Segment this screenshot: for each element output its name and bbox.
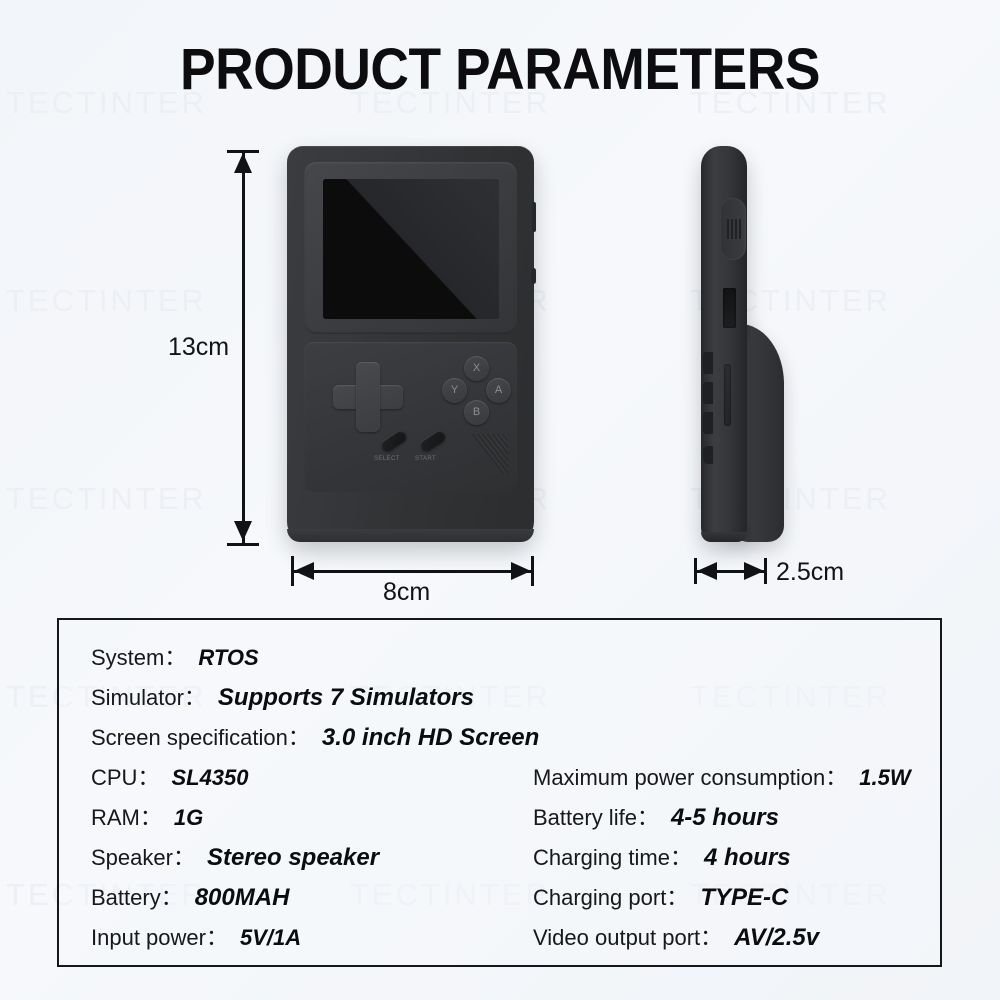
spec-value: Stereo speaker xyxy=(207,844,379,872)
height-dimension-label: 13cm xyxy=(168,333,229,362)
spec-value: SL4350 xyxy=(171,765,248,791)
spec-value: 1G xyxy=(174,805,203,831)
spec-label: Simulator： xyxy=(91,680,206,712)
spec-label: Battery life： xyxy=(533,800,659,832)
spec-row-simulator: Simulator： Supports 7 Simulators xyxy=(91,680,474,712)
height-dimension-arrow-down xyxy=(234,521,252,541)
height-dimension-arrow-up xyxy=(234,153,252,173)
watermark: TECTINTER xyxy=(6,283,207,319)
speaker-grille xyxy=(464,434,508,474)
spec-row-screen-specification: Screen specification： 3.0 inch HD Screen xyxy=(91,720,539,752)
button-x: X xyxy=(464,356,489,381)
spec-label: CPU： xyxy=(91,760,159,792)
spec-label: Screen specification： xyxy=(91,720,310,752)
spec-row-video-output-port: Video output port： AV/2.5v xyxy=(533,920,819,952)
watermark: TECTINTER xyxy=(6,481,207,517)
device-screen xyxy=(323,179,499,319)
screen-bezel xyxy=(304,162,517,334)
side-button-4 xyxy=(703,446,713,464)
spec-row-cpu: CPU： SL4350 xyxy=(91,760,249,792)
specifications-box: System： RTOS Simulator： Supports 7 Simul… xyxy=(57,618,942,967)
side-seam-line xyxy=(724,364,731,426)
spec-label: RAM： xyxy=(91,800,162,832)
depth-dimension-label: 2.5cm xyxy=(776,558,844,587)
product-parameters-page: TECTINTER TECTINTER TECTINTER TECTINTER … xyxy=(0,0,1000,1000)
button-b: B xyxy=(464,400,489,425)
spec-row-maximum-power-consumption: Maximum power consumption： 1.5W xyxy=(533,760,911,792)
width-dimension-label: 8cm xyxy=(383,578,430,607)
spec-row-system: System： RTOS xyxy=(91,640,259,672)
spec-value: 4 hours xyxy=(704,844,791,872)
device-base-edge xyxy=(287,529,534,542)
spec-label: Charging port： xyxy=(533,880,688,912)
side-card-slot xyxy=(723,288,736,328)
spec-value: 800MAH xyxy=(195,884,290,912)
height-dimension-line xyxy=(242,150,245,546)
spec-row-battery: Battery： 800MAH xyxy=(91,880,289,912)
spec-label: Speaker： xyxy=(91,840,195,872)
depth-dimension-tick-right xyxy=(764,558,767,584)
side-button-3 xyxy=(703,412,713,434)
screen-gloss-highlight xyxy=(323,179,499,319)
spec-row-battery-life: Battery life： 4-5 hours xyxy=(533,800,779,832)
width-dimension-tick-right xyxy=(531,556,534,586)
spec-label: Charging time： xyxy=(533,840,692,872)
width-dimension-arrow-right xyxy=(511,562,531,580)
side-button-2 xyxy=(703,382,713,404)
spec-value: TYPE-C xyxy=(700,884,788,912)
spec-row-input-power: Input power： 5V/1A xyxy=(91,920,301,952)
side-vent-grille xyxy=(720,198,746,260)
spec-label: Maximum power consumption： xyxy=(533,760,847,792)
spec-value: 3.0 inch HD Screen xyxy=(322,724,539,752)
spec-row-charging-time: Charging time： 4 hours xyxy=(533,840,791,872)
spec-row-speaker: Speaker： Stereo speaker xyxy=(91,840,379,872)
handheld-console-side-view xyxy=(692,146,792,542)
button-y: Y xyxy=(442,378,467,403)
device-side-base-edge xyxy=(701,532,747,542)
device-side-body xyxy=(701,146,747,542)
spec-value: 4-5 hours xyxy=(671,804,779,832)
width-dimension-arrow-left xyxy=(294,562,314,580)
depth-dimension-arrow-right xyxy=(744,562,764,580)
handheld-console-front-view: X Y A B SELECT START xyxy=(287,146,534,542)
spec-label: System： xyxy=(91,640,186,672)
spec-label: Input power： xyxy=(91,920,228,952)
dpad-vertical-bar xyxy=(356,362,380,432)
spec-value: 1.5W xyxy=(859,765,910,791)
side-port-icon xyxy=(531,268,536,284)
start-button xyxy=(418,429,447,454)
spec-row-ram: RAM： 1G xyxy=(91,800,203,832)
start-button-label: START xyxy=(415,456,436,462)
select-button-label: SELECT xyxy=(374,456,400,462)
control-panel: X Y A B SELECT START xyxy=(304,342,517,492)
side-button-1 xyxy=(703,352,713,374)
height-dimension-tick-bottom xyxy=(227,543,259,546)
spec-row-charging-port: Charging port： TYPE-C xyxy=(533,880,788,912)
depth-dimension-arrow-left xyxy=(697,562,717,580)
button-a: A xyxy=(486,378,511,403)
spec-label: Battery： xyxy=(91,880,183,912)
spec-label: Video output port： xyxy=(533,920,722,952)
width-dimension-line xyxy=(291,570,533,573)
side-button-strip-icon xyxy=(532,202,536,232)
spec-value: RTOS xyxy=(198,645,258,671)
dpad xyxy=(333,362,403,432)
select-button xyxy=(379,429,408,454)
spec-value: 5V/1A xyxy=(240,925,301,951)
spec-value: Supports 7 Simulators xyxy=(218,684,474,712)
page-title: PRODUCT PARAMETERS xyxy=(40,36,960,103)
spec-value: AV/2.5v xyxy=(734,924,819,952)
